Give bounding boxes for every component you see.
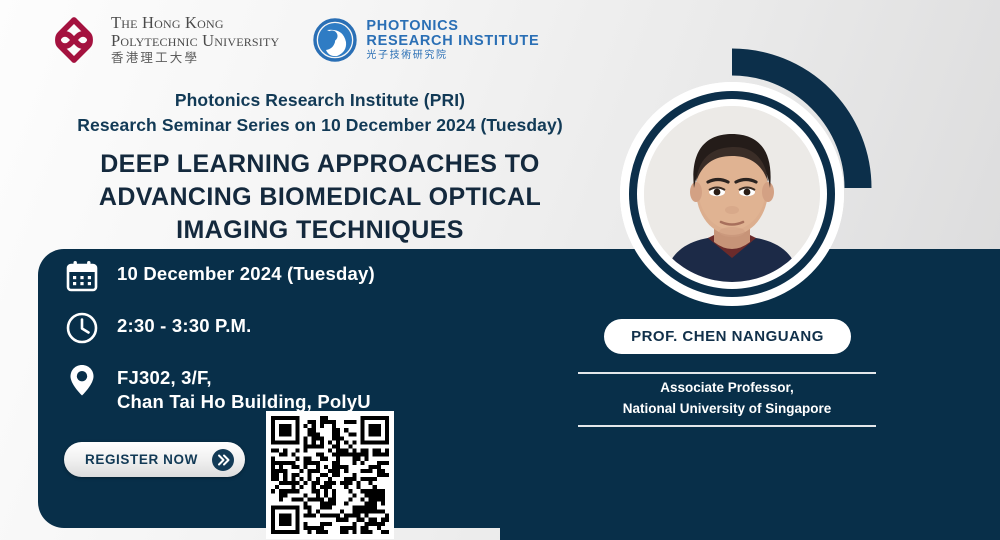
- polyu-name-chinese: 香港理工大學: [111, 52, 279, 65]
- register-button-label: REGISTER NOW: [85, 452, 198, 467]
- calendar-icon: [65, 259, 99, 293]
- speaker-photo-2: [644, 106, 820, 282]
- event-details-list: 10 December 2024 (Tuesday) 2:30 - 3:30 P…: [65, 258, 495, 432]
- polyu-logo: The Hong Kong Polytechnic University 香港理…: [48, 14, 279, 66]
- title-line-1: DEEP LEARNING APPROACHES TO: [28, 148, 612, 181]
- logo-bar: The Hong Kong Polytechnic University 香港理…: [48, 14, 539, 66]
- affiliation-rule-top: [578, 372, 876, 374]
- detail-row-date: 10 December 2024 (Tuesday): [65, 258, 495, 293]
- location-pin-icon: [65, 363, 99, 397]
- pri-name-line1: PHOTONICS: [366, 19, 539, 34]
- speaker-name-badge: PROF. CHEN NANGUANG: [604, 319, 851, 354]
- seminar-series-heading: Photonics Research Institute (PRI) Resea…: [0, 88, 640, 138]
- register-now-button[interactable]: REGISTER NOW: [64, 442, 245, 477]
- title-line-2: ADVANCING BIOMEDICAL OPTICAL: [28, 181, 612, 214]
- detail-row-time: 2:30 - 3:30 P.M.: [65, 310, 495, 345]
- pri-name-chinese: 光子技術研究院: [366, 51, 539, 62]
- detail-text-time: 2:30 - 3:30 P.M.: [117, 310, 251, 338]
- title-line-3: IMAGING TECHNIQUES: [28, 214, 612, 247]
- affiliation-line-2: National University of Singapore: [578, 399, 876, 420]
- clock-icon: [65, 311, 99, 345]
- double-chevron-right-icon: [211, 448, 235, 472]
- affiliation-rule-bottom: [578, 425, 876, 427]
- page-title: DEEP LEARNING APPROACHES TO ADVANCING BI…: [28, 148, 612, 247]
- polyu-name-line1: The Hong Kong: [111, 15, 279, 32]
- detail-text-date: 10 December 2024 (Tuesday): [117, 258, 375, 286]
- polyu-knot-logo-icon: [48, 14, 100, 66]
- avatar-overlay: [620, 82, 844, 306]
- speaker-name: PROF. CHEN NANGUANG: [631, 328, 824, 345]
- detail-row-venue: FJ302, 3/F, Chan Tai Ho Building, PolyU: [65, 362, 495, 415]
- series-line-2: Research Seminar Series on 10 December 2…: [0, 113, 640, 138]
- affiliation-line-1: Associate Professor,: [578, 378, 876, 399]
- pri-name-line2: RESEARCH INSTITUTE: [366, 34, 539, 49]
- registration-qr-code[interactable]: [266, 411, 394, 539]
- pri-logo: PHOTONICS RESEARCH INSTITUTE 光子技術研究院: [313, 18, 539, 62]
- date-value: 10 December 2024 (Tuesday): [117, 262, 375, 286]
- speaker-affiliation: Associate Professor, National University…: [578, 378, 876, 420]
- series-line-1: Photonics Research Institute (PRI): [0, 88, 640, 113]
- time-value: 2:30 - 3:30 P.M.: [117, 314, 251, 338]
- venue-line-1: FJ302, 3/F,: [117, 366, 371, 390]
- seminar-poster: The Hong Kong Polytechnic University 香港理…: [0, 0, 1000, 540]
- detail-text-venue: FJ302, 3/F, Chan Tai Ho Building, PolyU: [117, 362, 371, 415]
- pri-globe-logo-icon: [313, 18, 357, 62]
- polyu-name-line2: Polytechnic University: [111, 33, 279, 50]
